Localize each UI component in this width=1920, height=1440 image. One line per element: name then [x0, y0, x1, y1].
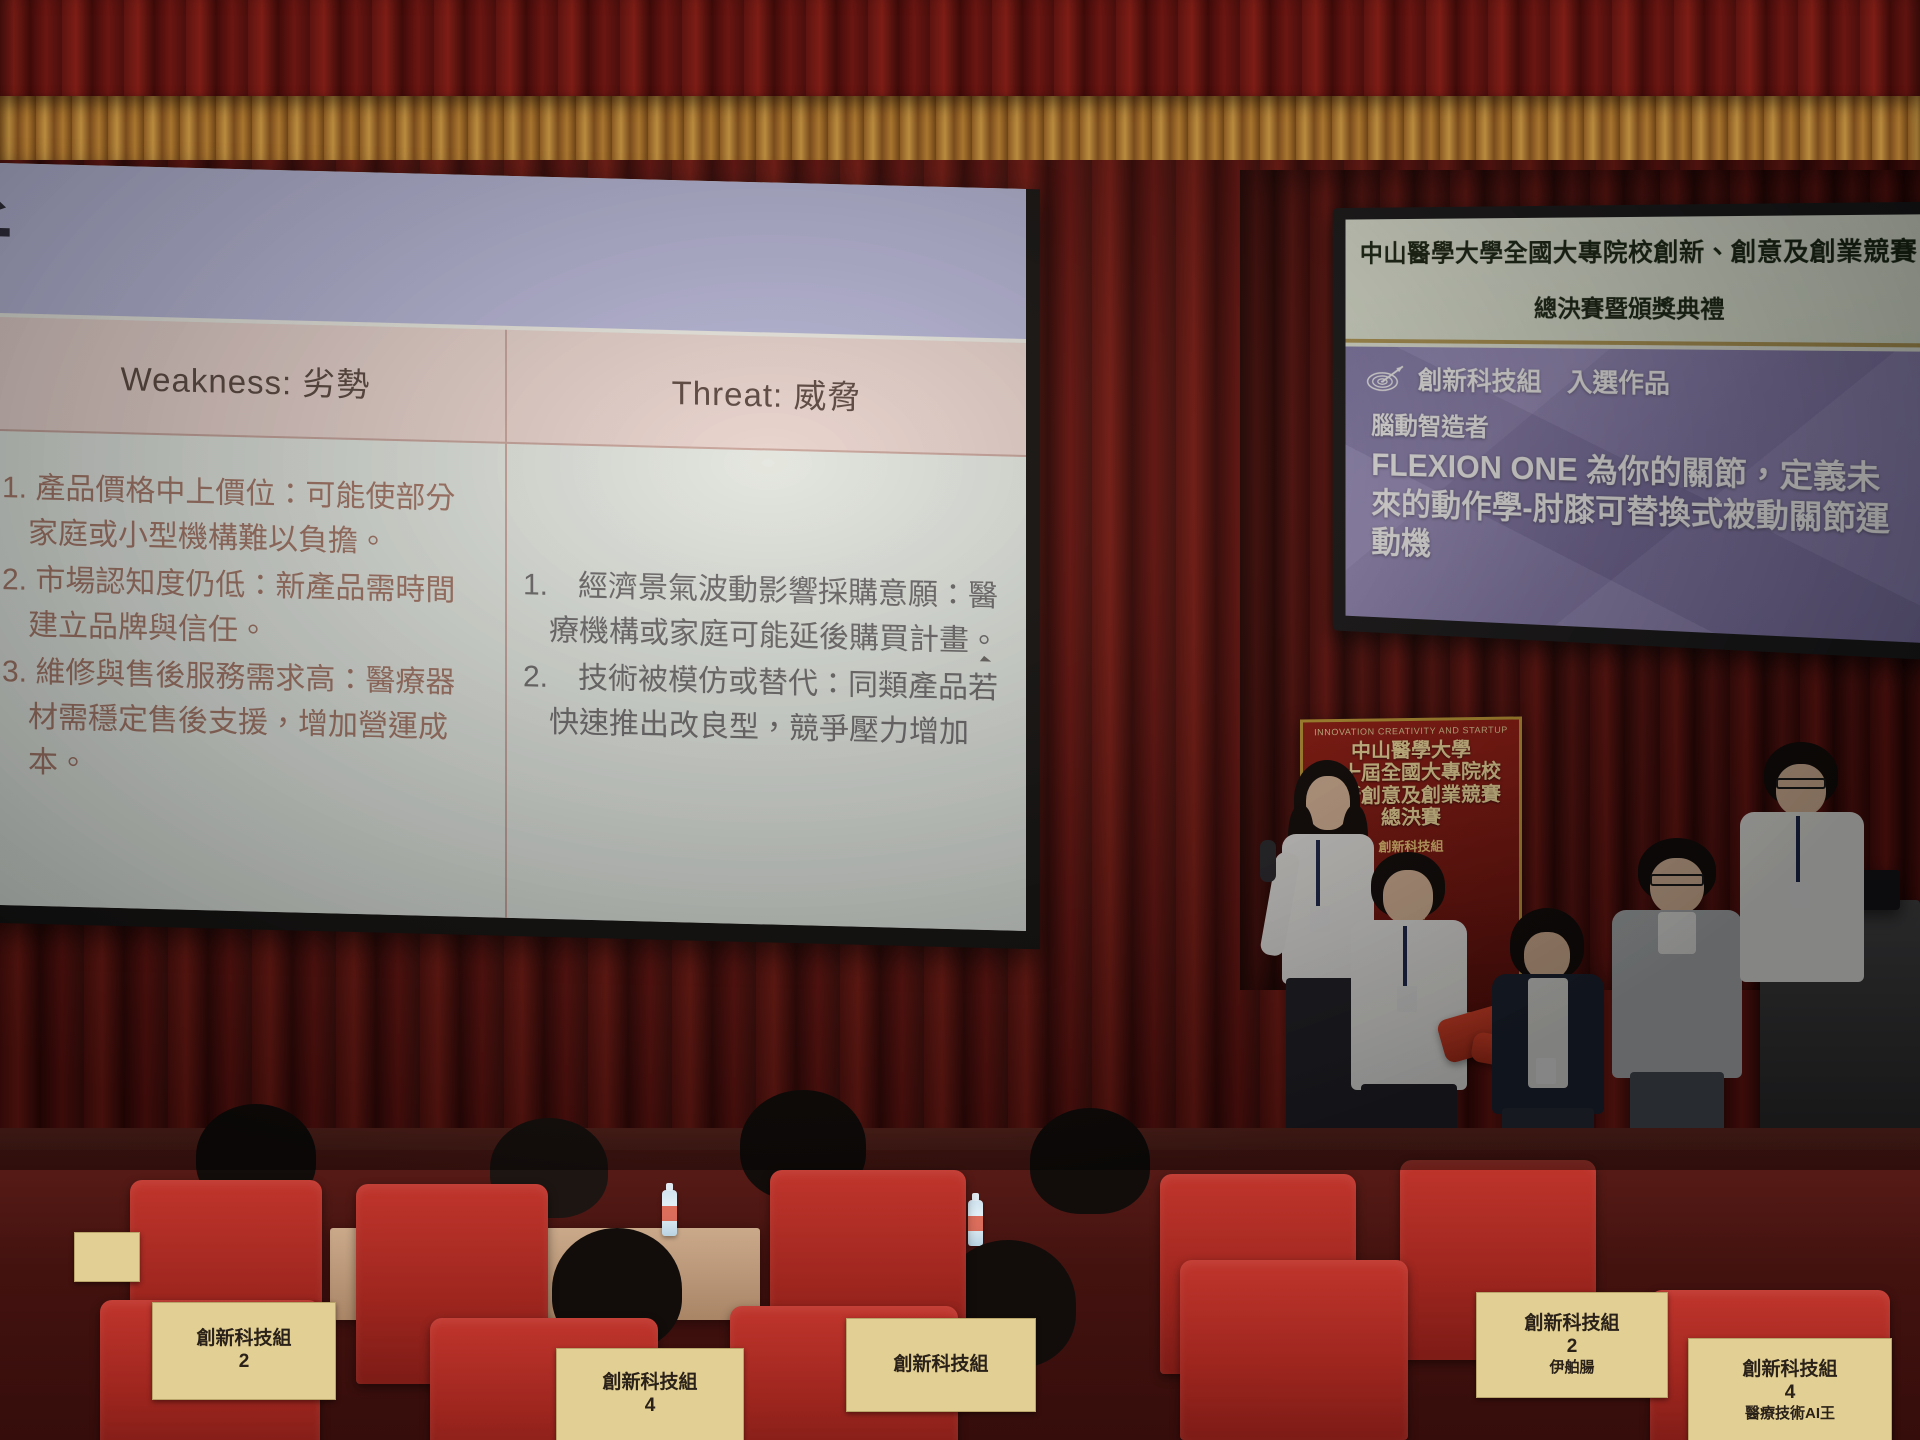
presenter-collar [1658, 912, 1696, 954]
placard-line-2: 4 [645, 1395, 656, 1418]
swot-cell-threat: 1. 經濟景氣波動影響採購意願：醫療機構或家庭可能延後購買計畫。 2. 技術被模… [505, 442, 1026, 931]
presenter-badge [1790, 882, 1810, 908]
presenter-face [1776, 764, 1826, 816]
presenter-face [1650, 858, 1704, 914]
monitor-category-label: 創新科技組 入選作品 [1418, 361, 1670, 401]
slide-title: 析 [0, 173, 14, 294]
presenter-at-desk [1740, 742, 1864, 1072]
monitor-project-block: 腦動智造者 FLEXION ONE 為你的關節，定義未來的動作學-肘膝可替換式被… [1371, 407, 1912, 583]
placard-line-1: 創新科技組 [893, 1354, 988, 1377]
swot-header-threat: Threat: 威脅 [505, 330, 1026, 455]
slide-title-band: 析 [0, 163, 1026, 339]
presenter-lanyard [1403, 926, 1407, 990]
swot-table: Weakness: 劣勢 Threat: 威脅 1. 產品價格中上價位：可能使部… [0, 317, 1026, 931]
placard-line-3: 醫療技術AI王 [1745, 1405, 1835, 1423]
presenter-lanyard [1316, 840, 1320, 910]
swot-header-weakness: Weakness: 劣勢 [0, 317, 505, 442]
audience-member [1030, 1108, 1150, 1248]
tent-card-label [106, 1251, 109, 1263]
seat-placard: 創新科技組 [846, 1318, 1036, 1412]
wall-monitor: 中山醫學大學全國大專院校創新、創意及創業競賽 總決賽暨頒獎典禮 創新科技組 入選… [1333, 202, 1920, 661]
projection-screen-surface: 析 Weakness: 劣勢 Threat: 威脅 1. 產品價格中上價位：可能… [0, 163, 1026, 931]
placard-line-2: 2 [1567, 1336, 1578, 1359]
presenter-badge [1536, 1058, 1556, 1084]
seat-placard: 創新科技組 4 醫療技術AI王 [1688, 1338, 1892, 1440]
presenter-face [1383, 870, 1433, 924]
presenter-face [1524, 932, 1570, 980]
wall-monitor-screen: 中山醫學大學全國大專院校創新、創意及創業競賽 總決賽暨頒獎典禮 創新科技組 入選… [1346, 214, 1920, 643]
threat-item-1: 1. 經濟景氣波動影響採購意願：醫療機構或家庭可能延後購買計畫。 [523, 562, 1004, 664]
monitor-slide-body: 創新科技組 入選作品 腦動智造者 FLEXION ONE 為你的關節，定義未來的… [1346, 346, 1920, 643]
swot-body-row: 1. 產品價格中上價位：可能使部分家庭或小型機構難以負擔。 2. 市場認知度仍低… [0, 429, 1026, 931]
monitor-header-line2: 總決賽暨頒獎典禮 [1346, 289, 1920, 326]
seat-placard: 創新科技組 4 [556, 1348, 744, 1440]
presenter-badge [1310, 906, 1330, 932]
presenter-lanyard [1796, 816, 1800, 886]
weakness-item-2: 2. 市場認知度仍低：新產品需時間建立品牌與信任。 [2, 557, 483, 659]
weakness-item-3: 3. 維修與售後服務需求高：醫療器材需穩定售後支援，增加營運成本。 [2, 649, 483, 796]
threat-item-2: 2. 技術被模仿或替代：同類產品若快速推出改良型，競爭壓力增加 [523, 654, 1004, 756]
seat-placard: 創新科技組 2 [152, 1302, 336, 1400]
monitor-header-line1: 中山醫學大學全國大專院校創新、創意及創業競賽 [1346, 231, 1920, 270]
placard-line-1: 創新科技組 [196, 1328, 291, 1351]
glasses-icon [1776, 778, 1826, 789]
banner-top-text: INNOVATION CREATIVITY AND STARTUP [1303, 719, 1519, 737]
monitor-project-title: FLEXION ONE 為你的關節，定義未來的動作學-肘膝可替換式被動關節運動機 [1371, 445, 1912, 582]
glasses-icon [1650, 874, 1704, 886]
projection-screen: 析 Weakness: 劣勢 Threat: 威脅 1. 產品價格中上價位：可能… [0, 163, 1040, 950]
auditorium-scene: 析 Weakness: 劣勢 Threat: 威脅 1. 產品價格中上價位：可能… [0, 0, 1920, 1440]
target-icon [1366, 364, 1407, 394]
placard-line-2: 2 [239, 1351, 250, 1374]
audience-seat [1180, 1260, 1408, 1440]
weakness-item-1: 1. 產品價格中上價位：可能使部分家庭或小型機構難以負擔。 [2, 465, 483, 567]
monitor-category-row: 創新科技組 入選作品 [1366, 360, 1670, 401]
table-tent-card [74, 1232, 140, 1282]
placard-line-1: 創新科技組 [1742, 1359, 1837, 1382]
microphone-icon [1260, 840, 1276, 882]
placard-line-1: 創新科技組 [602, 1372, 697, 1395]
monitor-slide-header: 中山醫學大學全國大專院校創新、創意及創業競賽 總決賽暨頒獎典禮 [1346, 214, 1920, 347]
presenter-badge [1397, 986, 1417, 1012]
seat-placard: 創新科技組 2 伊舶腸 [1476, 1292, 1668, 1398]
swot-cell-weakness: 1. 產品價格中上價位：可能使部分家庭或小型機構難以負擔。 2. 市場認知度仍低… [0, 429, 505, 918]
placard-line-3: 伊舶腸 [1549, 1359, 1594, 1377]
placard-line-1: 創新科技組 [1524, 1313, 1619, 1336]
placard-line-2: 4 [1785, 1382, 1796, 1405]
